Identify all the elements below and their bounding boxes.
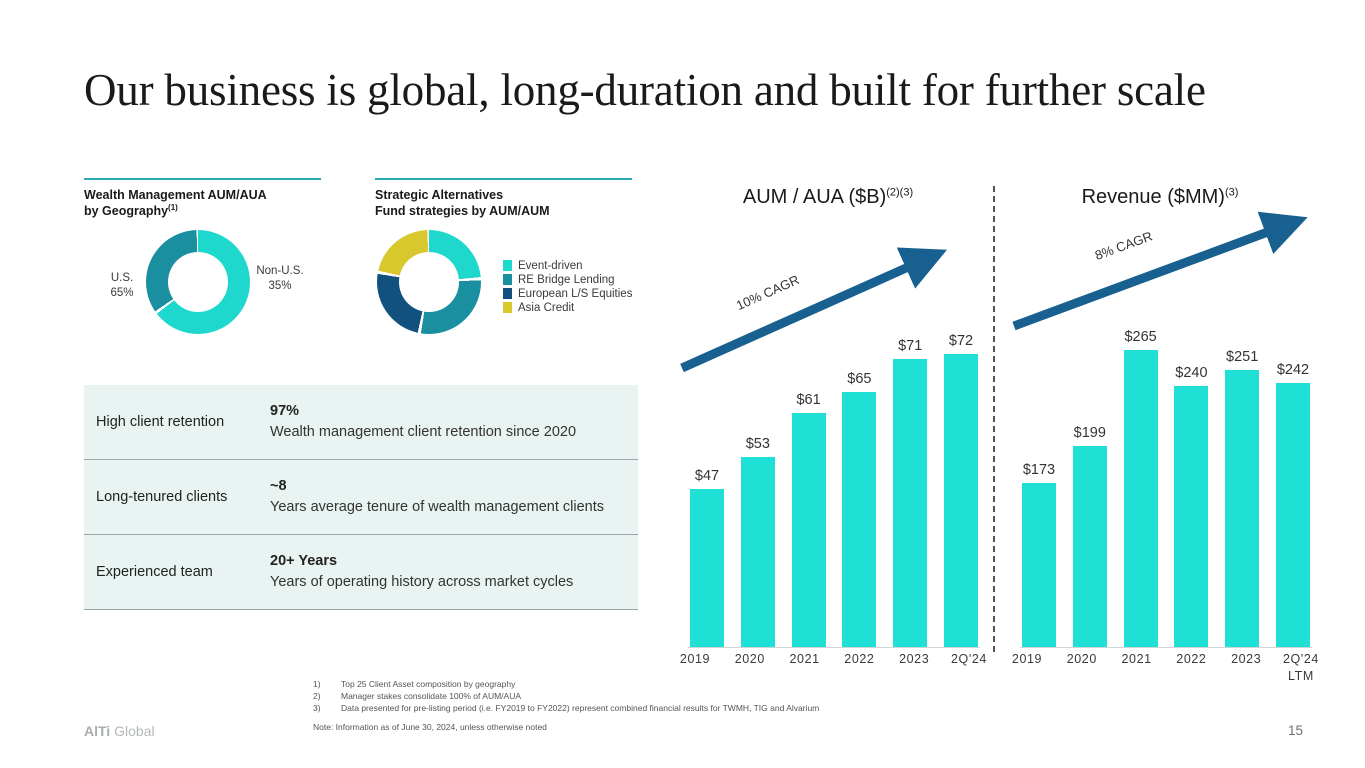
stat-label: Long-tenured clients bbox=[84, 489, 270, 505]
stat-label: Experienced team bbox=[84, 564, 270, 580]
donut-label-us: U.S. 65% bbox=[100, 271, 144, 301]
section-header-alts-line2: Fund strategies by AUM/AUM bbox=[375, 204, 550, 218]
bar-value-label: $47 bbox=[695, 468, 719, 484]
section-header-wealth-management: Wealth Management AUM/AUA by Geography(1… bbox=[84, 178, 321, 219]
donut-hole bbox=[168, 252, 228, 312]
bar-column: $199 bbox=[1071, 296, 1109, 647]
brand-logo-light: Global bbox=[114, 723, 154, 739]
footnote-row: 1)Top 25 Client Asset composition by geo… bbox=[313, 678, 819, 690]
bars-revenue: $173$199$265$240$251$242 bbox=[1020, 296, 1312, 647]
stat-value: 20+ Years bbox=[270, 551, 624, 572]
bar-value-label: $199 bbox=[1074, 425, 1106, 441]
section-header-strategic-alternatives: Strategic Alternatives Fund strategies b… bbox=[375, 178, 632, 219]
legend-label: Asia Credit bbox=[518, 302, 574, 314]
bar bbox=[944, 354, 978, 647]
stats-table: High client retention97%Wealth managemen… bbox=[84, 385, 638, 610]
chart-revenue: Revenue ($MM)(3) $173$199$265$240$251$24… bbox=[1000, 186, 1320, 686]
stat-description: Years average tenure of wealth managemen… bbox=[270, 497, 624, 518]
footnote-marker-1: (1) bbox=[168, 203, 178, 212]
bar-column: $65 bbox=[840, 296, 878, 647]
footnote-number: 3) bbox=[313, 702, 341, 714]
bar-column: $265 bbox=[1122, 296, 1160, 647]
legend-item: Asia Credit bbox=[503, 301, 632, 314]
chart-title-revenue-text: Revenue ($MM) bbox=[1082, 186, 1225, 208]
bar-value-label: $53 bbox=[746, 436, 770, 452]
note-text: Note: Information as of June 30, 2024, u… bbox=[313, 722, 547, 732]
section-header-wealth-line2: by Geography bbox=[84, 204, 168, 218]
legend-item: European L/S Equities bbox=[503, 287, 632, 300]
x-axis-tick-label: 2023 bbox=[1227, 651, 1265, 685]
bar-column: $53 bbox=[739, 296, 777, 647]
stat-body: ~8Years average tenure of wealth managem… bbox=[270, 476, 638, 518]
x-axis-tick-label: 2Q'24 bbox=[950, 651, 988, 668]
legend-label: Event-driven bbox=[518, 260, 583, 272]
stat-body: 97%Wealth management client retention si… bbox=[270, 401, 638, 443]
table-row: Experienced team20+ YearsYears of operat… bbox=[84, 535, 638, 610]
x-axis-labels-aum: 201920202021202220232Q'24 bbox=[676, 651, 988, 668]
bar-value-label: $265 bbox=[1124, 329, 1156, 345]
bar-value-label: $65 bbox=[847, 371, 871, 387]
legend-swatch-icon bbox=[503, 288, 512, 299]
bar-value-label: $61 bbox=[796, 392, 820, 408]
x-axis-tick-label: 2019 bbox=[1008, 651, 1046, 685]
bar-value-label: $173 bbox=[1023, 462, 1055, 478]
footnote-number: 1) bbox=[313, 678, 341, 690]
bar bbox=[1225, 370, 1259, 647]
bar-column: $72 bbox=[942, 296, 980, 647]
brand-logo-bold: AlTi bbox=[84, 723, 110, 739]
stat-description: Wealth management client retention since… bbox=[270, 422, 624, 443]
section-header-wealth-line1: Wealth Management AUM/AUA bbox=[84, 188, 267, 202]
legend-item: Event-driven bbox=[503, 259, 632, 272]
bar bbox=[1174, 386, 1208, 647]
bar bbox=[792, 413, 826, 647]
table-row: Long-tenured clients~8Years average tenu… bbox=[84, 460, 638, 535]
bar bbox=[1073, 446, 1107, 647]
bar bbox=[1276, 383, 1310, 647]
donut-label-non-us-value: 35% bbox=[268, 280, 291, 292]
footnote-text: Top 25 Client Asset composition by geogr… bbox=[341, 678, 515, 690]
stat-value: 97% bbox=[270, 401, 624, 422]
bar-column: $240 bbox=[1172, 296, 1210, 647]
legend-label: European L/S Equities bbox=[518, 288, 632, 300]
x-axis-labels-revenue: 201920202021202220232Q'24LTM bbox=[1008, 651, 1320, 685]
x-axis-tick-label: 2Q'24LTM bbox=[1282, 651, 1320, 685]
x-axis-tick-label: 2022 bbox=[1172, 651, 1210, 685]
stat-description: Years of operating history across market… bbox=[270, 572, 624, 593]
legend-fund-strategies: Event-drivenRE Bridge LendingEuropean L/… bbox=[503, 259, 632, 315]
donut-label-us-value: 65% bbox=[110, 287, 133, 299]
bar bbox=[1124, 350, 1158, 647]
bar bbox=[842, 392, 876, 647]
x-axis-tick-label: 2019 bbox=[676, 651, 714, 668]
table-row: High client retention97%Wealth managemen… bbox=[84, 385, 638, 460]
bar-column: $242 bbox=[1274, 296, 1312, 647]
bar-column: $251 bbox=[1223, 296, 1261, 647]
x-axis-line bbox=[1020, 647, 1312, 648]
donut-chart-fund-strategies bbox=[377, 230, 481, 334]
page-number: 15 bbox=[1288, 723, 1303, 738]
x-axis-tick-label: 2020 bbox=[731, 651, 769, 668]
section-header-alts-line1: Strategic Alternatives bbox=[375, 188, 503, 202]
bar bbox=[690, 489, 724, 647]
bar bbox=[741, 457, 775, 647]
legend-swatch-icon bbox=[503, 302, 512, 313]
x-axis-line bbox=[688, 647, 980, 648]
bar-value-label: $242 bbox=[1277, 362, 1309, 378]
stat-label: High client retention bbox=[84, 414, 270, 430]
footnote-text: Manager stakes consolidate 100% of AUM/A… bbox=[341, 690, 521, 702]
bar-column: $71 bbox=[891, 296, 929, 647]
bars-aum: $47$53$61$65$71$72 bbox=[688, 296, 980, 647]
chart-title-aum: AUM / AUA ($B)(2)(3) bbox=[668, 186, 988, 209]
footnote-row: 2)Manager stakes consolidate 100% of AUM… bbox=[313, 690, 819, 702]
legend-item: RE Bridge Lending bbox=[503, 273, 632, 286]
page-title: Our business is global, long-duration an… bbox=[84, 66, 1314, 115]
bar-value-label: $251 bbox=[1226, 349, 1258, 365]
bar-column: $173 bbox=[1020, 296, 1058, 647]
x-axis-tick-label: 2020 bbox=[1063, 651, 1101, 685]
chart-aum-aua: AUM / AUA ($B)(2)(3) $47$53$61$65$71$72 … bbox=[668, 186, 988, 686]
x-axis-tick-label: 2022 bbox=[840, 651, 878, 668]
bar bbox=[893, 359, 927, 647]
x-axis-tick-label: 2021 bbox=[786, 651, 824, 668]
stat-value: ~8 bbox=[270, 476, 624, 497]
donut-hole bbox=[399, 252, 459, 312]
bar-value-label: $240 bbox=[1175, 365, 1207, 381]
x-axis-tick-label: 2023 bbox=[895, 651, 933, 668]
chart-title-aum-superscript: (2)(3) bbox=[886, 186, 913, 198]
donut-chart-geography bbox=[146, 230, 250, 334]
donut-label-non-us: Non-U.S. 35% bbox=[249, 264, 311, 294]
plot-area-revenue: $173$199$265$240$251$242 bbox=[1012, 296, 1312, 648]
bar-column: $47 bbox=[688, 296, 726, 647]
legend-swatch-icon bbox=[503, 260, 512, 271]
brand-logo: AlTi Global bbox=[84, 723, 155, 739]
footnote-number: 2) bbox=[313, 690, 341, 702]
chart-title-revenue-superscript: (3) bbox=[1225, 186, 1238, 198]
bar bbox=[1022, 483, 1056, 647]
chart-title-revenue: Revenue ($MM)(3) bbox=[1000, 186, 1320, 209]
footnotes: 1)Top 25 Client Asset composition by geo… bbox=[313, 678, 819, 714]
donut-label-non-us-name: Non-U.S. bbox=[256, 265, 303, 277]
stat-body: 20+ YearsYears of operating history acro… bbox=[270, 551, 638, 593]
footnote-text: Data presented for pre-listing period (i… bbox=[341, 702, 819, 714]
legend-swatch-icon bbox=[503, 274, 512, 285]
footnote-row: 3)Data presented for pre-listing period … bbox=[313, 702, 819, 714]
bar-value-label: $71 bbox=[898, 338, 922, 354]
chart-divider bbox=[993, 186, 995, 652]
legend-label: RE Bridge Lending bbox=[518, 274, 615, 286]
x-axis-tick-label: 2021 bbox=[1118, 651, 1156, 685]
plot-area-aum: $47$53$61$65$71$72 bbox=[680, 296, 980, 648]
chart-title-aum-text: AUM / AUA ($B) bbox=[743, 186, 886, 208]
bar-value-label: $72 bbox=[949, 333, 973, 349]
cagr-label-revenue: 8% CAGR bbox=[1093, 228, 1154, 263]
donut-label-us-name: U.S. bbox=[111, 272, 133, 284]
bar-column: $61 bbox=[790, 296, 828, 647]
slide: Our business is global, long-duration an… bbox=[0, 0, 1365, 768]
